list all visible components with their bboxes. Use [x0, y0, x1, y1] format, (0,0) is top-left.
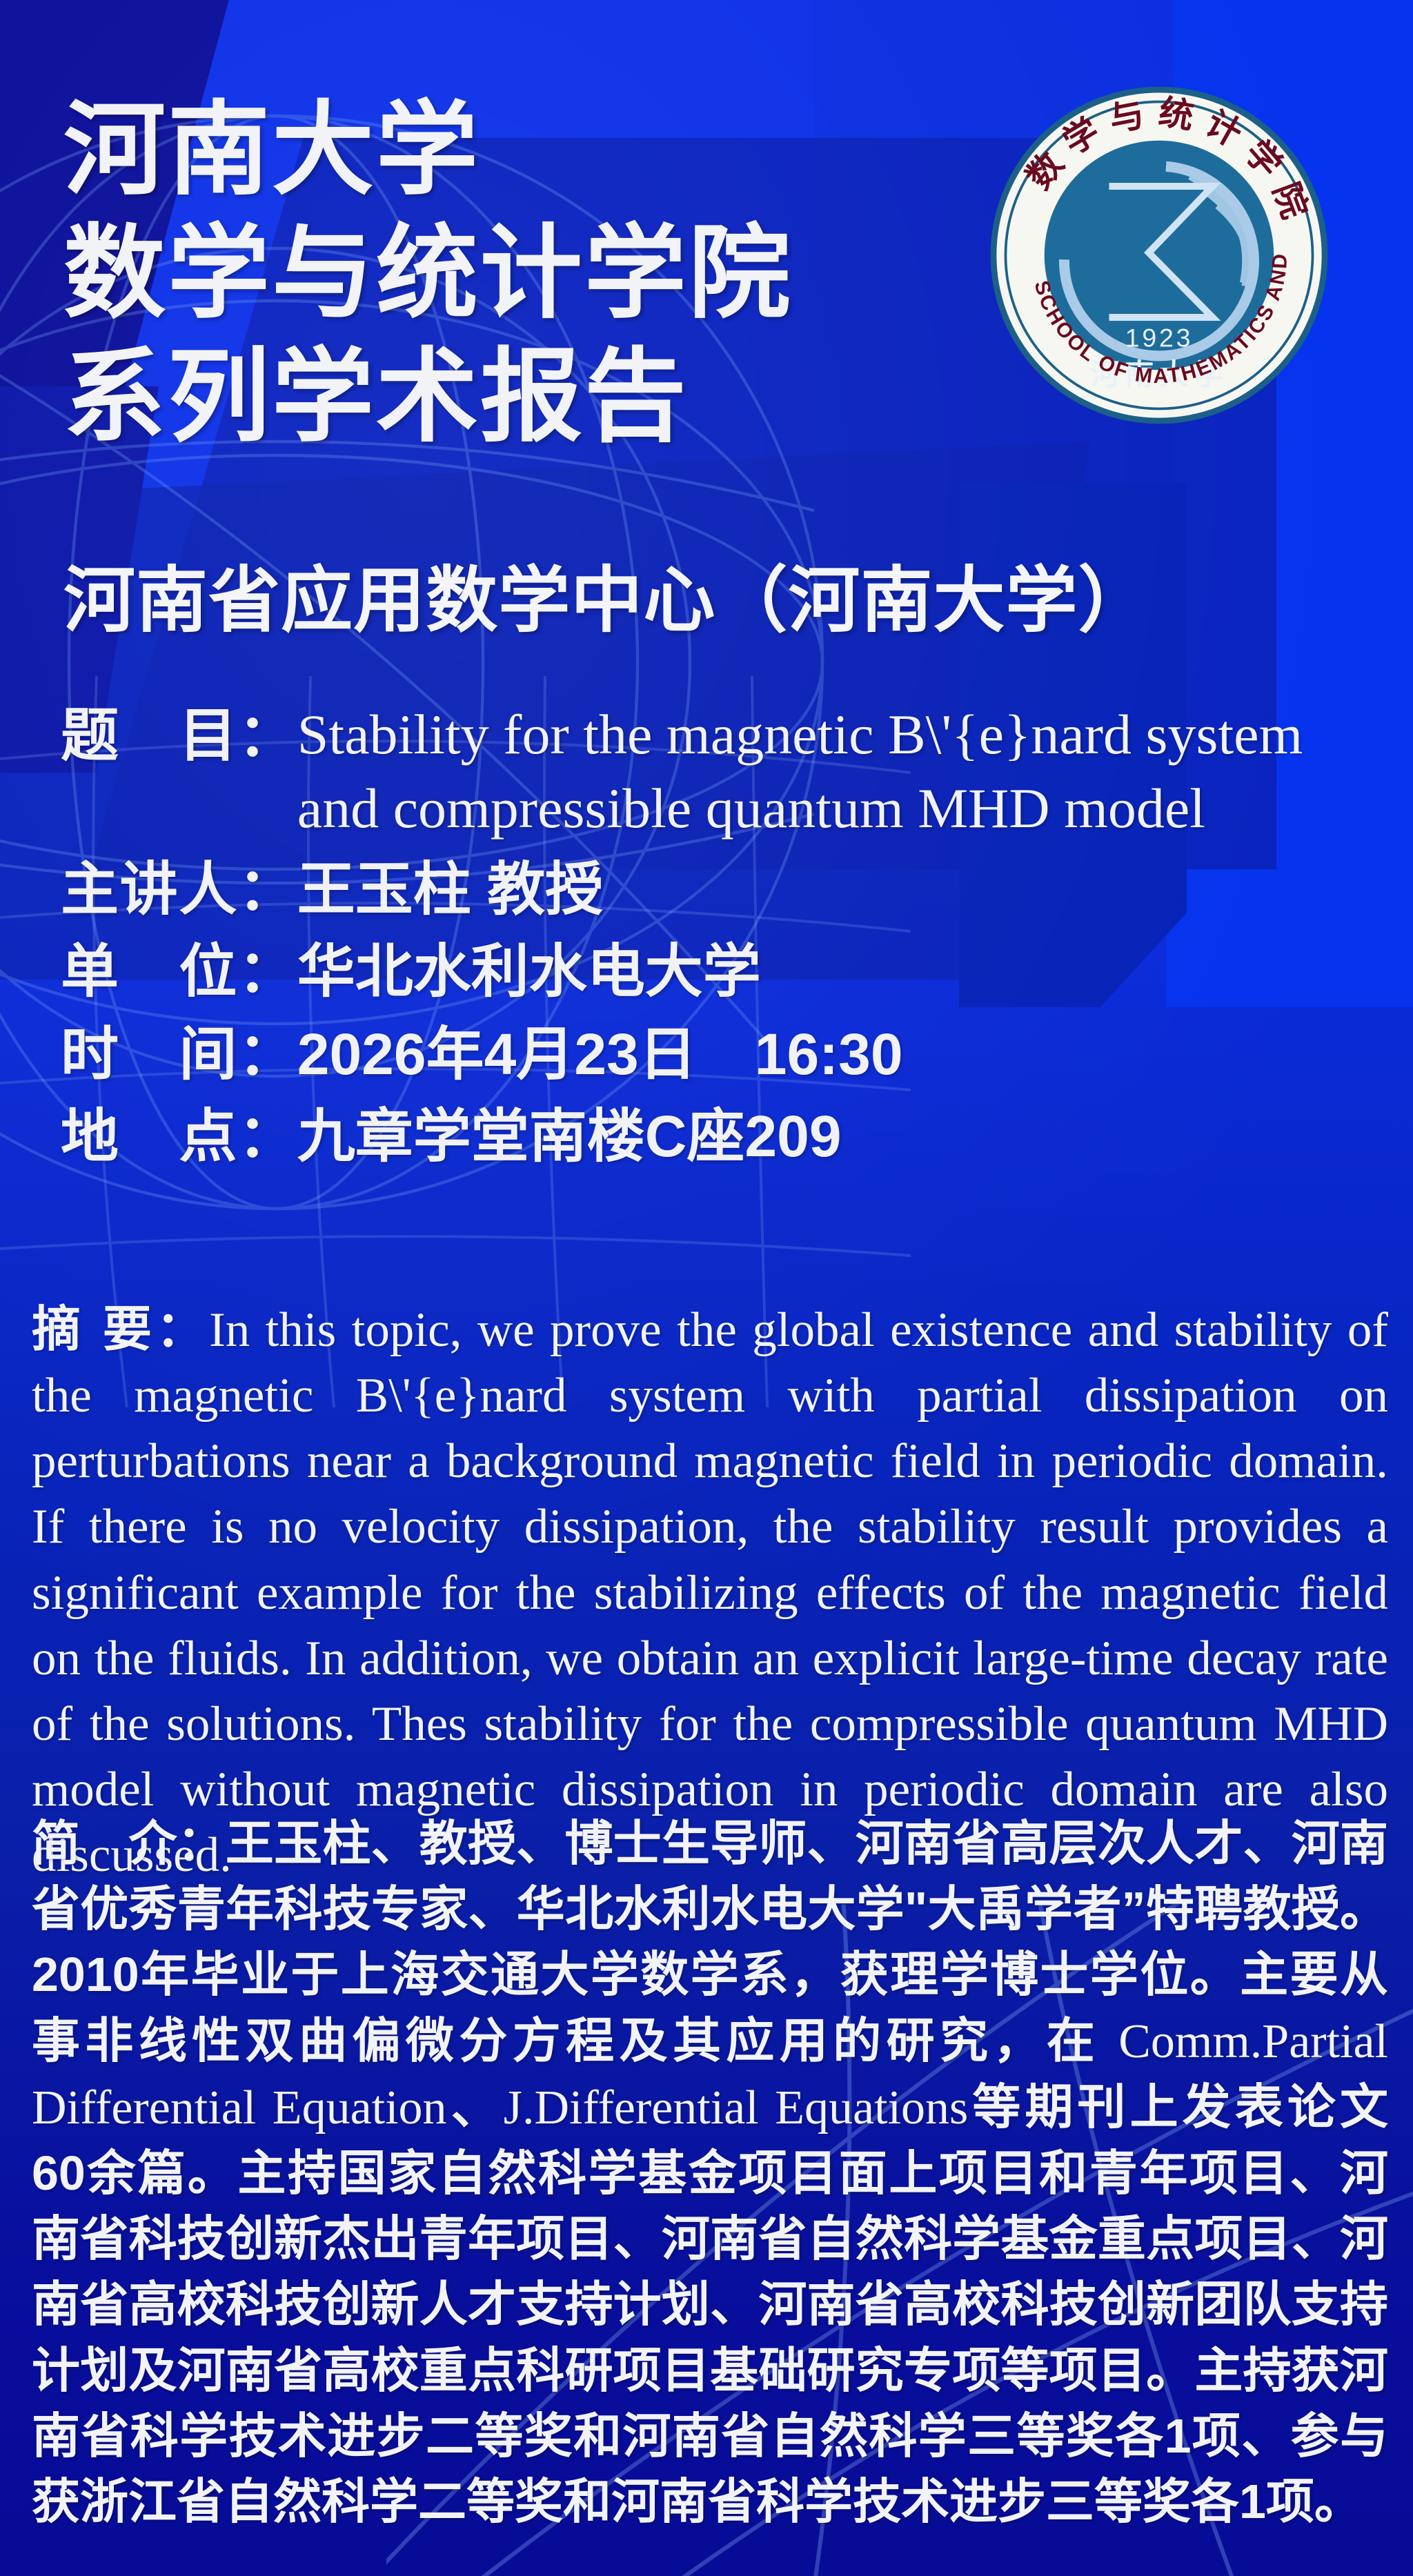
info-row-affiliation: 单 位： 华北水利水电大学 [61, 934, 1365, 1009]
poster-headline: 河南大学 数学与统计学院 系列学术报告 [63, 88, 981, 459]
info-row-time: 时 间： 2026年4月23日 16:30 [61, 1017, 1365, 1092]
bio-paragraph: 简 介：王玉柱、教授、博士生导师、河南省高层次人才、河南省优秀青年科技专家、华北… [32, 1811, 1388, 2535]
poster-subtitle: 河南省应用数学中心（河南大学） [63, 559, 1151, 644]
info-label-time: 时 间： [61, 1017, 297, 1092]
info-value-venue: 九章学堂南楼C座209 [297, 1099, 1365, 1174]
info-value-speaker: 王玉柱 教授 [297, 852, 1365, 927]
school-seal-logo: 1923 河南大学 数学与统计学院 SCHOOL OF MATHEMATICS … [987, 83, 1332, 428]
info-row-title: 题 目： Stability for the magnetic B\'{e}na… [61, 698, 1365, 845]
info-label-venue: 地 点： [61, 1099, 297, 1174]
headline-line-3: 系列学术报告 [63, 335, 981, 459]
abstract-text: In this topic, we prove the global exist… [32, 1303, 1388, 1882]
info-row-venue: 地 点： 九章学堂南楼C座209 [61, 1099, 1365, 1174]
info-label-speaker: 主讲人： [61, 852, 297, 927]
info-row-speaker: 主讲人： 王玉柱 教授 [61, 852, 1365, 927]
bio-label: 简 介： [32, 1816, 226, 1870]
seminar-poster: 1923 河南大学 数学与统计学院 SCHOOL OF MATHEMATICS … [0, 0, 1413, 2576]
abstract-paragraph: 摘 要：In this topic, we prove the global e… [32, 1297, 1388, 1888]
headline-line-1: 河南大学 [63, 88, 981, 212]
bio-segment-2: 等期刊上发表论文60余篇。主持国家自然科学基金项目面上项目和青年项目、河南省科技… [32, 2080, 1388, 2528]
headline-line-2: 数学与统计学院 [63, 212, 981, 335]
info-value-title: Stability for the magnetic B\'{e}nard sy… [297, 698, 1365, 845]
logo-year-text: 1923 [1125, 324, 1193, 353]
bio-segment-sep: 、 [447, 2080, 504, 2134]
seminar-info-list: 题 目： Stability for the magnetic B\'{e}na… [61, 698, 1365, 1181]
info-label-title: 题 目： [61, 698, 297, 773]
info-value-affiliation: 华北水利水电大学 [297, 934, 1365, 1009]
info-label-affiliation: 单 位： [61, 934, 297, 1009]
abstract-label: 摘 要： [32, 1302, 209, 1357]
bio-journal-2: J.Differential Equations [504, 2081, 969, 2134]
info-value-time: 2026年4月23日 16:30 [297, 1017, 1365, 1092]
